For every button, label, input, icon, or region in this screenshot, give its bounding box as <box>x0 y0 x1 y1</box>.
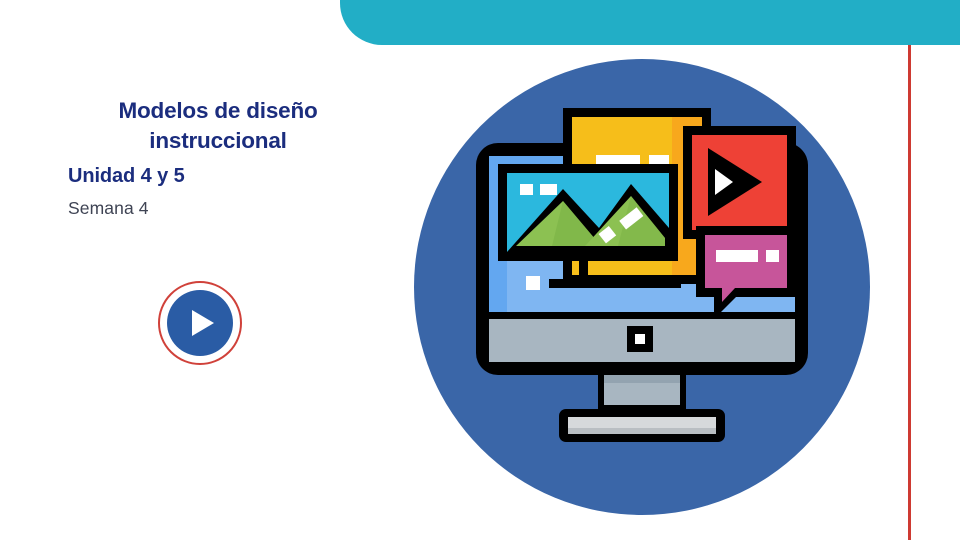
slide-title-line-1: Modelos de diseño <box>68 96 368 126</box>
slide-canvas: Modelos de diseño instruccional Unidad 4… <box>0 0 960 540</box>
image-card-base <box>549 279 681 288</box>
slide-title-line-2: instruccional <box>68 126 368 156</box>
image-card-dot-1 <box>520 184 533 195</box>
play-button[interactable] <box>158 281 242 365</box>
top-teal-banner <box>340 0 960 45</box>
image-card-stand <box>579 261 588 279</box>
slide-title: Modelos de diseño instruccional <box>68 96 368 156</box>
desktop-dot-icon <box>526 276 540 290</box>
chat-bubble-line-2 <box>766 250 779 262</box>
slide-week-label: Semana 4 <box>68 198 149 219</box>
image-card-dot-2 <box>540 184 557 195</box>
monitor-neck-shade <box>604 375 680 383</box>
monitor-screen-divider <box>489 312 795 319</box>
right-red-divider <box>908 45 911 540</box>
play-icon <box>192 310 214 336</box>
chat-bubble-line-1 <box>716 250 758 262</box>
slide-subtitle: Unidad 4 y 5 <box>68 165 185 188</box>
monitor-base-shade <box>568 428 716 434</box>
play-button-disc <box>167 290 233 356</box>
monitor-logo-inner <box>635 334 645 344</box>
multimedia-computer-illustration <box>413 58 871 516</box>
